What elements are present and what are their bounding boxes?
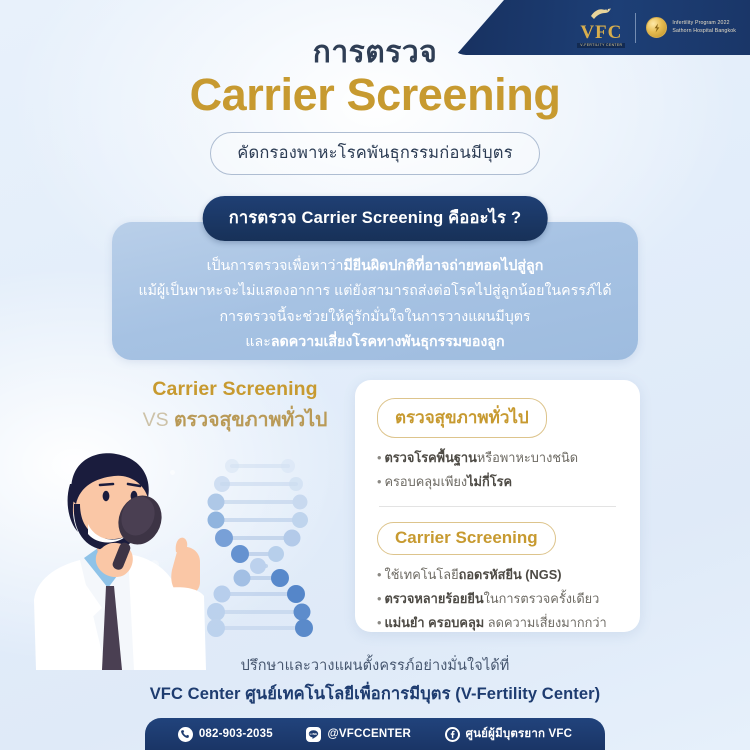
card-divider xyxy=(379,506,616,507)
title-block: การตรวจ Carrier Screening คัดกรองพาหะโรค… xyxy=(0,34,750,175)
definition-badge: การตรวจ Carrier Screening คืออะไร ? xyxy=(203,196,548,241)
contact-facebook-label: ศูนย์ผู้มีบุตรยาก VFC xyxy=(466,725,573,743)
bullet-icon: • xyxy=(377,450,381,465)
comparison-pill-carrier: Carrier Screening xyxy=(377,522,556,555)
vs-word: VS xyxy=(143,409,169,431)
award-text: Infertility Program 2022 Sathorn Hospita… xyxy=(672,20,736,34)
list-item-post: หรือพาหะบางชนิด xyxy=(477,450,578,465)
definition-line: การตรวจนี้จะช่วยให้คู่รักมั่นใจในการวางแ… xyxy=(126,305,624,330)
list-item: •ครอบคลุมเพียงไม่กี่โรค xyxy=(377,472,620,493)
cta-line-2: VFC Center ศูนย์เทคโนโลยีเพื่อการมีบุตร … xyxy=(0,681,750,707)
comparison-heading-line1: Carrier Screening xyxy=(120,378,350,401)
comparison-heading-thai: ตรวจสุขภาพทั่วไป xyxy=(174,409,327,431)
title-thai: การตรวจ xyxy=(0,34,750,72)
comparison-heading: Carrier Screening VS ตรวจสุขภาพทั่วไป xyxy=(120,378,350,435)
page-title: Carrier Screening xyxy=(0,70,750,120)
title-subtitle-pill: คัดกรองพาหะโรคพันธุกรรมก่อนมีบุตร xyxy=(210,132,540,175)
contact-facebook[interactable]: ศูนย์ผู้มีบุตรยาก VFC xyxy=(445,725,573,743)
contact-phone[interactable]: 082-903-2035 xyxy=(178,727,273,742)
definition-line: เป็นการตรวจเพื่อหาว่ามียีนผิดปกติที่อาจถ… xyxy=(126,254,624,279)
comparison-list-carrier: •ใช้เทคโนโลยีถอดรหัสยีน (NGS) •ตรวจหลายร… xyxy=(377,565,620,633)
list-item-bold: ถอดรหัสยีน (NGS) xyxy=(459,567,562,582)
bullet-icon: • xyxy=(377,474,381,489)
contact-line[interactable]: LINE @VFCCENTER xyxy=(306,727,411,742)
definition-line-3-pre: และ xyxy=(245,334,270,350)
comparison-pill-general: ตรวจสุขภาพทั่วไป xyxy=(377,398,547,438)
list-item: •แม่นยำ ครอบคลุม ลดความเสี่ยงมากกว่า xyxy=(377,613,620,634)
bullet-icon: • xyxy=(377,615,381,630)
list-item: •ตรวจโรคพื้นฐานหรือพาหะบางชนิด xyxy=(377,448,620,469)
bullet-icon: • xyxy=(377,567,381,582)
contact-bar: 082-903-2035 LINE @VFCCENTER ศูนย์ผู้มีบ… xyxy=(145,718,605,750)
cta-line-1: ปรึกษาและวางแผนตั้งครรภ์อย่างมั่นใจได้ที… xyxy=(0,654,750,677)
definition-line-0-bold: มียีนผิดปกติที่อาจถ่ายทอดไปสู่ลูก xyxy=(343,258,543,274)
list-item: •ตรวจหลายร้อยยีนในการตรวจครั้งเดียว xyxy=(377,589,620,610)
contact-line-label: @VFCCENTER xyxy=(327,728,411,740)
definition-line: แม้ผู้เป็นพาหะจะไม่แสดงอาการ แต่ยังสามาร… xyxy=(126,279,624,304)
phone-icon xyxy=(178,727,193,742)
comparison-list-general: •ตรวจโรคพื้นฐานหรือพาหะบางชนิด •ครอบคลุม… xyxy=(377,448,620,492)
list-item-pre2: ครอบคลุมเพียง xyxy=(384,474,467,489)
cta-block: ปรึกษาและวางแผนตั้งครรภ์อย่างมั่นใจได้ที… xyxy=(0,654,750,707)
infographic-poster: VFC V-FERTILITY CENTER Infertility Progr… xyxy=(0,0,750,750)
svg-text:LINE: LINE xyxy=(310,732,318,736)
list-item-post: ในการตรวจครั้งเดียว xyxy=(484,591,600,606)
list-item-bold: ไม่กี่โรค xyxy=(467,474,512,489)
list-item: •ใช้เทคโนโลยีถอดรหัสยีน (NGS) xyxy=(377,565,620,586)
definition-body: เป็นการตรวจเพื่อหาว่ามียีนผิดปกติที่อาจถ… xyxy=(112,254,638,355)
contact-phone-label: 082-903-2035 xyxy=(199,728,273,740)
list-item-pre: ใช้เทคโนโลยี xyxy=(384,567,458,582)
comparison-card: ตรวจสุขภาพทั่วไป •ตรวจโรคพื้นฐานหรือพาหะ… xyxy=(355,380,640,632)
definition-line-0-pre: เป็นการตรวจเพื่อหาว่า xyxy=(207,258,344,274)
facebook-icon xyxy=(445,727,460,742)
comparison-heading-line2: VS ตรวจสุขภาพทั่วไป xyxy=(120,404,350,435)
bullet-icon: • xyxy=(377,591,381,606)
award-line-1: Infertility Program 2022 xyxy=(672,20,736,27)
list-item-bold: ตรวจหลายร้อยยีน xyxy=(384,591,483,606)
definition-line: และลดความเสี่ยงโรคทางพันธุกรรมของลูก xyxy=(126,330,624,355)
doctor-with-magnifier-illustration xyxy=(18,440,223,675)
line-app-icon: LINE xyxy=(306,727,321,742)
list-item-bold: ตรวจโรคพื้นฐาน xyxy=(384,450,476,465)
definition-line-3-bold: ลดความเสี่ยงโรคทางพันธุกรรมของลูก xyxy=(271,334,505,350)
list-item-bold: แม่นยำ ครอบคลุม xyxy=(384,615,484,630)
list-item-post: ลดความเสี่ยงมากกว่า xyxy=(484,615,607,630)
